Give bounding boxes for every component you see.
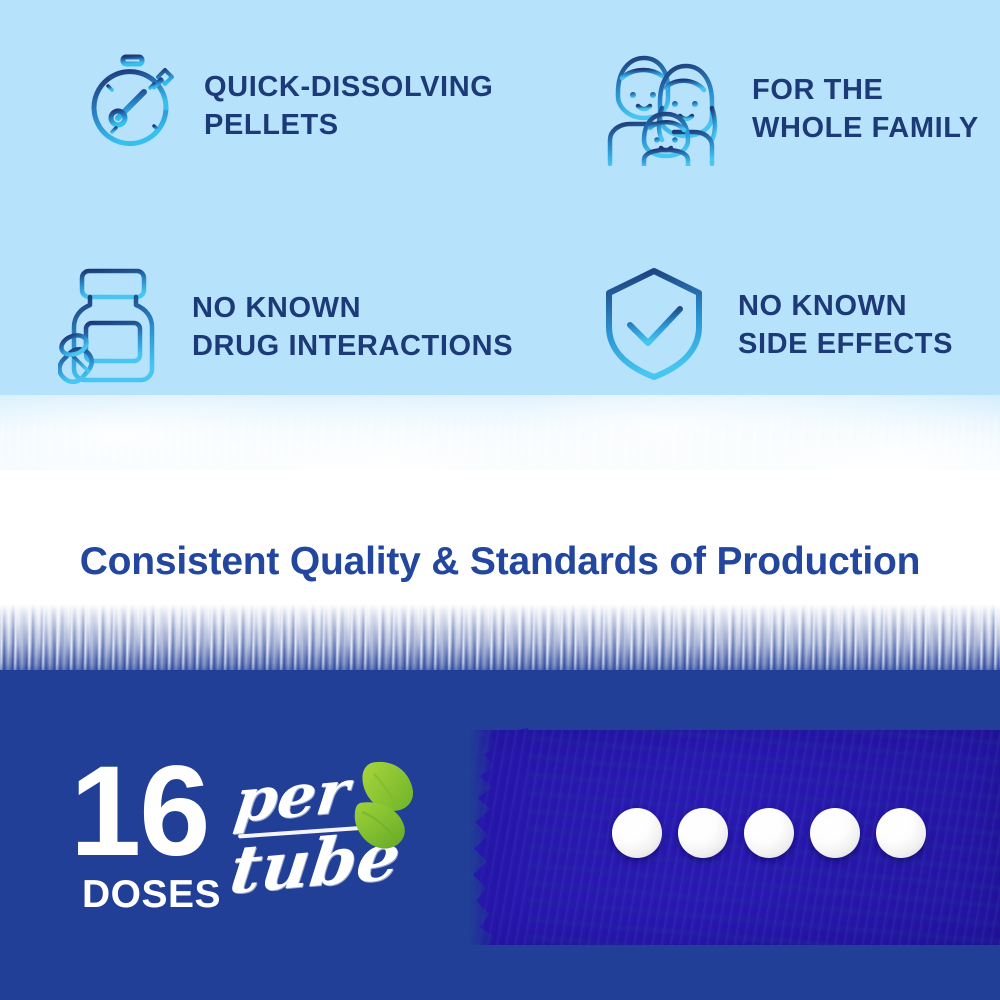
feature-no-known-side-effects: NO KNOWN SIDE EFFECTS — [602, 265, 953, 386]
dose-unit-label: DOSES — [82, 875, 221, 914]
mint-leaf-icon — [330, 758, 416, 867]
pellet-sphere-icon — [612, 808, 662, 858]
page-title: Consistent Quality & Standards of Produc… — [0, 540, 1000, 584]
feature-label: NO KNOWN SIDE EFFECTS — [738, 288, 953, 362]
family-icon — [600, 48, 720, 171]
product-feature-poster: QUICK-DISSOLVING PELLETS — [0, 0, 1000, 1000]
feature-for-the-whole-family: FOR THE WHOLE FAMILY — [600, 48, 979, 171]
dose-count: 16 — [70, 748, 208, 876]
feature-label: FOR THE WHOLE FAMILY — [752, 72, 979, 146]
stopwatch-icon — [66, 48, 178, 165]
shield-check-icon — [602, 265, 706, 386]
features-grid: QUICK-DISSOLVING PELLETS — [0, 0, 1000, 420]
doses-background-footer — [0, 945, 1000, 1000]
pellet-sphere-icon — [810, 808, 860, 858]
pellet-sphere-icon — [744, 808, 794, 858]
pill-bottle-icon — [58, 265, 166, 390]
feature-label: NO KNOWN DRUG INTERACTIONS — [192, 290, 513, 364]
doses-callout: 16 DOSES per tube — [0, 740, 470, 940]
pellet-sphere-icon — [876, 808, 926, 858]
feature-no-known-drug-interactions: NO KNOWN DRUG INTERACTIONS — [58, 265, 513, 390]
pellet-row — [612, 808, 926, 858]
pellet-sphere-icon — [678, 808, 728, 858]
feature-quick-dissolving-pellets: QUICK-DISSOLVING PELLETS — [66, 48, 493, 165]
feature-label: QUICK-DISSOLVING PELLETS — [204, 69, 493, 143]
